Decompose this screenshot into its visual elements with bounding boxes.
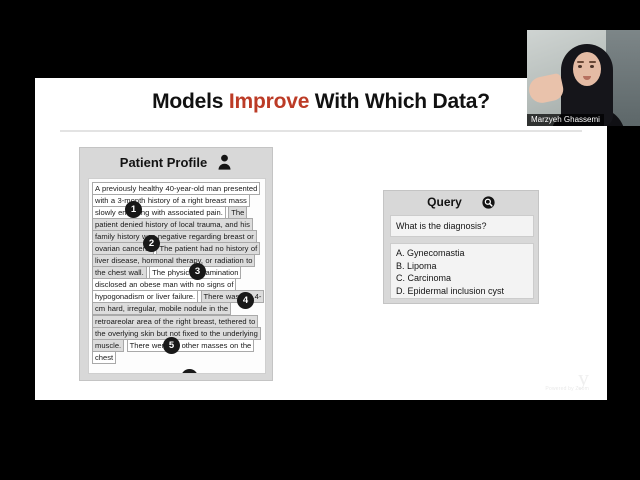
query-option-2[interactable]: B. Lipoma (396, 260, 533, 273)
patient-profile-text-panel: A previously healthy 40-year-old man pre… (88, 178, 266, 374)
webcam-participant-name: Marzyeh Ghassemi (527, 114, 604, 126)
zoom-watermark: y Powered by Zoom (545, 370, 589, 392)
webcam-speaker-eye-right (590, 65, 594, 68)
query-question: What is the diagnosis? (390, 215, 534, 237)
watermark-logo-text: y (545, 370, 589, 386)
query-option-4[interactable]: D. Epidermal inclusion cyst (396, 285, 533, 298)
title-segment-2: With Which Data? (309, 90, 490, 113)
slide-canvas: Models Improve With Which Data? Patient … (35, 78, 607, 400)
patient-profile-header: Patient Profile (80, 154, 272, 170)
person-icon (217, 154, 232, 170)
screen: Models Improve With Which Data? Patient … (0, 0, 640, 480)
patient-profile-title: Patient Profile (120, 155, 207, 170)
query-header: Query (384, 195, 538, 209)
title-segment-accent: Improve (229, 90, 309, 113)
sentence-badge-6[interactable]: 6 (181, 369, 198, 374)
webcam-speaker-eye-left (578, 65, 582, 68)
webcam-speaker-brow-left (577, 61, 584, 63)
title-divider (60, 130, 582, 132)
page-title: Models Improve With Which Data? (35, 90, 607, 114)
query-card: Query What is the diagnosis? A. Gynecoma… (383, 190, 539, 304)
webcam-video-frame (527, 30, 640, 126)
patient-profile-card: Patient Profile A previously healthy 40-… (79, 147, 273, 381)
watermark-caption: Powered by Zoom (545, 386, 589, 392)
patient-narrative: A previously healthy 40-year-old man pre… (89, 179, 265, 364)
query-options-list: A. GynecomastiaB. LipomaC. CarcinomaD. E… (390, 243, 534, 299)
sentence-badge-3[interactable]: 3 (189, 263, 206, 280)
webcam-speaker-brow-right (589, 61, 596, 63)
sentence-badge-5[interactable]: 5 (163, 337, 180, 354)
sentence-badge-1[interactable]: 1 (125, 201, 142, 218)
webcam-speaker-face (573, 52, 601, 86)
webcam-overlay[interactable]: Marzyeh Ghassemi (527, 30, 640, 126)
query-option-1[interactable]: A. Gynecomastia (396, 247, 533, 260)
query-option-3[interactable]: C. Carcinoma (396, 272, 533, 285)
sentence-badge-2[interactable]: 2 (143, 235, 160, 252)
search-icon (482, 196, 495, 209)
title-segment-1: Models (152, 90, 229, 113)
query-title: Query (427, 195, 462, 209)
sentence-badge-4[interactable]: 4 (237, 292, 254, 309)
